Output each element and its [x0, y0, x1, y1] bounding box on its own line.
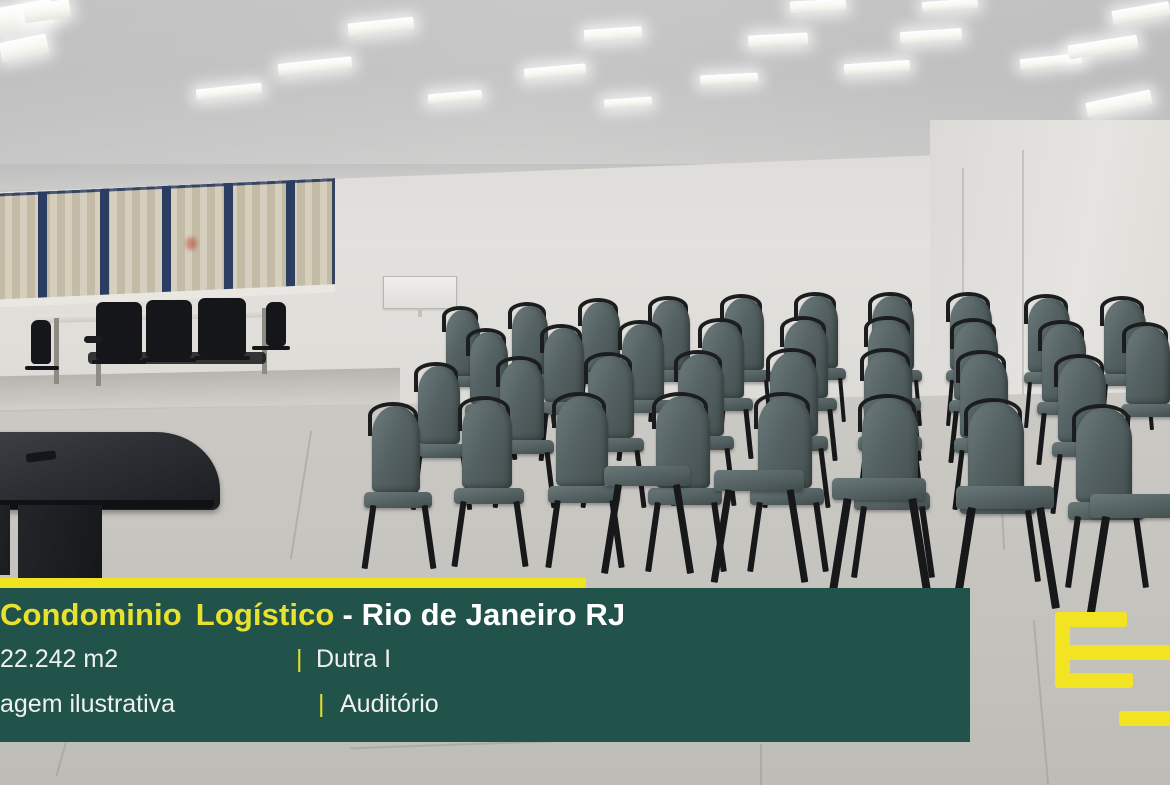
info-panel: CondominioLogístico- Rio de Janeiro RJ 2… — [0, 588, 970, 742]
office-chair-base — [25, 366, 59, 370]
chair-cushion — [604, 466, 690, 486]
chair-back — [968, 402, 1024, 496]
wall-seam — [1022, 150, 1024, 410]
row-separator: | — [318, 687, 325, 721]
title-logistico: Logístico — [196, 597, 335, 632]
office-chair-arm — [84, 336, 102, 343]
chair-cushion — [1090, 494, 1170, 518]
floor-tile-line — [760, 744, 762, 785]
window-mullion — [224, 183, 233, 295]
logo-bar-top — [1055, 612, 1127, 627]
window-mullion — [162, 186, 171, 298]
space-type: Auditório — [340, 687, 439, 721]
panel-title: CondominioLogístico- Rio de Janeiro RJ — [0, 594, 970, 636]
office-chair-shadow — [88, 352, 266, 364]
chair-cushion — [714, 470, 804, 491]
window-mullion — [286, 180, 295, 292]
office-chair-base — [252, 346, 290, 350]
meeting-table-leg — [54, 318, 59, 384]
illustrative-note: agem ilustrativa — [0, 687, 175, 721]
development-name: Dutra I — [316, 642, 391, 676]
chair-cushion — [956, 486, 1054, 509]
chair-back — [1126, 326, 1170, 404]
chair-back — [372, 406, 420, 492]
whiteboard-stem — [418, 308, 422, 317]
foreground-table — [0, 432, 220, 510]
foreground-table-leg — [18, 505, 102, 583]
row-separator: | — [296, 642, 303, 676]
office-chair — [198, 298, 246, 356]
chair-back — [462, 400, 512, 488]
window-reflection — [186, 237, 197, 250]
whiteboard — [383, 276, 457, 309]
logo-bar-middle — [1055, 645, 1170, 660]
office-chair — [31, 320, 51, 364]
chair-back — [544, 328, 584, 402]
chair-back — [1076, 408, 1132, 502]
logo-bar-bottom — [1055, 673, 1133, 688]
foreground-table-leg — [0, 505, 10, 575]
window-mullion — [100, 188, 109, 300]
window-mullion — [38, 191, 47, 303]
office-chair — [146, 300, 192, 358]
stylized-e-logo — [1055, 612, 1170, 730]
title-location: - Rio de Janeiro RJ — [342, 597, 625, 632]
chair-cushion — [832, 478, 926, 500]
chair-back — [556, 396, 608, 486]
screenshot-stage: CondominioLogístico- Rio de Janeiro RJ 2… — [0, 0, 1170, 785]
logo-bar-detached — [1119, 711, 1170, 726]
chair-back — [418, 366, 460, 444]
title-condominio: Condominio — [0, 597, 182, 632]
area-value: 22.242 m2 — [0, 642, 118, 676]
office-chair — [266, 302, 286, 346]
